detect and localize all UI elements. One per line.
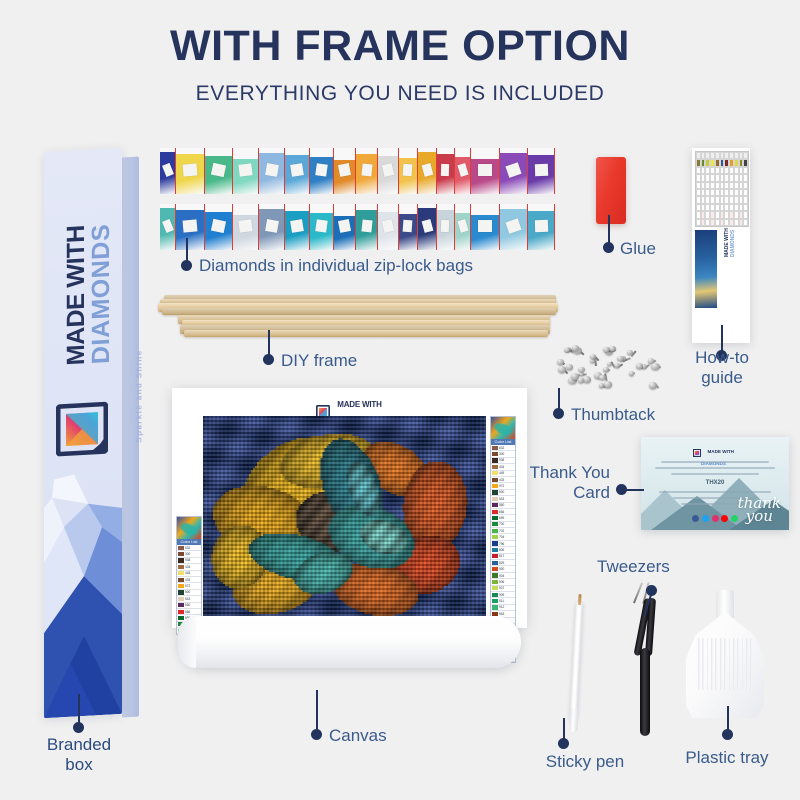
legend-code: 632 bbox=[499, 446, 504, 450]
legend-code: 550 bbox=[499, 503, 504, 507]
zip-bag-row-2 bbox=[160, 204, 555, 250]
zip-bag-label bbox=[265, 219, 279, 233]
tray-ridge bbox=[729, 638, 731, 690]
guide-cover-photo bbox=[695, 230, 717, 308]
guide-chart-cell bbox=[743, 211, 748, 218]
tray-ridge bbox=[742, 638, 744, 690]
tray-ridge bbox=[724, 638, 726, 690]
guide-chart-cell bbox=[743, 182, 748, 189]
legend-swatch bbox=[178, 590, 184, 594]
zip-bag-label bbox=[441, 219, 450, 231]
zip-bag bbox=[259, 148, 285, 194]
zip-bag-label bbox=[290, 219, 304, 233]
legend-code: 918 bbox=[499, 612, 504, 616]
zip-bag bbox=[437, 204, 455, 250]
callout-thank-you-card: Thank You Card bbox=[498, 463, 610, 502]
guide-color-chart bbox=[695, 151, 749, 227]
guide-chart-cell bbox=[743, 167, 748, 174]
legend-swatch bbox=[492, 605, 498, 609]
tweezers bbox=[628, 582, 662, 737]
zip-bag-label bbox=[478, 164, 492, 176]
box-tagline: Sparkle and Shine bbox=[135, 321, 144, 472]
canvas-roll bbox=[178, 616, 521, 668]
tray-ridges bbox=[698, 638, 752, 690]
thumbtack bbox=[583, 376, 591, 382]
legend-swatch bbox=[492, 529, 498, 533]
callout-sticky-pen: Sticky pen bbox=[530, 752, 640, 772]
thumbtack bbox=[604, 381, 612, 387]
glue-leader bbox=[608, 215, 610, 245]
social-icon[interactable] bbox=[692, 515, 699, 522]
thumbtack bbox=[617, 356, 623, 361]
box-polygon-art bbox=[44, 464, 122, 718]
tray-ridge bbox=[746, 638, 748, 690]
thumbtack bbox=[578, 378, 584, 383]
box-brand-text: MADE WITH DIAMONDS bbox=[64, 188, 114, 401]
tray-ridge bbox=[711, 638, 713, 690]
legend-swatch bbox=[178, 616, 184, 620]
zip-bag-label bbox=[361, 163, 373, 176]
legend-code: 825 bbox=[499, 561, 504, 565]
legend-code: 300 bbox=[499, 452, 504, 456]
legend-swatch bbox=[178, 546, 184, 550]
legend-swatch bbox=[492, 541, 498, 545]
bags-dot bbox=[181, 260, 192, 271]
legend-code: 911 bbox=[499, 599, 504, 603]
callout-glue: Glue bbox=[620, 239, 656, 259]
zip-bag bbox=[471, 204, 500, 250]
legend-swatch bbox=[492, 458, 498, 462]
tray-ridge bbox=[698, 638, 700, 690]
legend-code: 938 bbox=[185, 558, 190, 562]
canvas-roll-end bbox=[178, 616, 196, 668]
box-brand-line1: MADE WITH bbox=[64, 190, 89, 401]
card-text-line bbox=[661, 461, 769, 463]
thank-you-leader bbox=[624, 489, 644, 491]
zip-bag-label bbox=[403, 219, 413, 232]
zip-bag-label bbox=[290, 163, 304, 177]
legend-code: 666 bbox=[499, 510, 504, 514]
zip-bag-label bbox=[315, 219, 328, 232]
zip-bag-label bbox=[535, 163, 548, 175]
legend-swatch bbox=[492, 516, 498, 520]
legend-swatch bbox=[492, 586, 498, 590]
zip-bag bbox=[176, 148, 205, 194]
legend-code: 907 bbox=[499, 586, 504, 590]
zip-bag bbox=[455, 204, 472, 250]
zip-bag bbox=[310, 148, 334, 194]
zip-bag bbox=[500, 148, 528, 194]
legend-code: 912 bbox=[499, 605, 504, 609]
legend-swatch bbox=[492, 567, 498, 571]
zip-bag-label bbox=[265, 163, 279, 177]
legend-swatch bbox=[178, 565, 184, 569]
card-logo-line1: MADE WITH bbox=[707, 450, 734, 455]
zip-bag bbox=[437, 148, 455, 194]
zip-bag-label bbox=[183, 219, 198, 232]
social-icon[interactable] bbox=[721, 515, 728, 522]
legend-code: 543 bbox=[185, 597, 190, 601]
legend-swatch bbox=[492, 561, 498, 565]
legend-swatch bbox=[178, 578, 184, 582]
guide-chart-cell bbox=[743, 152, 748, 159]
legend-code: 300 bbox=[185, 552, 190, 556]
tweezers-dot bbox=[646, 585, 657, 596]
canvas-dot bbox=[311, 729, 322, 740]
zip-bag bbox=[500, 204, 528, 250]
zip-bag-label bbox=[183, 163, 198, 176]
zip-bag-label bbox=[403, 163, 413, 176]
tray-ridge bbox=[750, 638, 752, 690]
tweezer-body bbox=[640, 648, 650, 736]
legend-code: 704 bbox=[499, 535, 504, 539]
legend-code: 445 bbox=[185, 571, 190, 575]
zip-bag-label bbox=[361, 219, 373, 232]
pen-cap bbox=[569, 708, 578, 732]
thumbtack-dot bbox=[553, 408, 564, 419]
legend-code: 806 bbox=[499, 548, 504, 552]
zip-bag bbox=[233, 204, 260, 250]
how-to-guide: MADE WITH DIAMONDS bbox=[692, 148, 750, 343]
zip-bag bbox=[418, 204, 437, 250]
zip-bag-label bbox=[211, 162, 227, 176]
zip-bag-label bbox=[211, 218, 227, 232]
legend-code: 700 bbox=[499, 522, 504, 526]
legend-code: 500 bbox=[185, 590, 190, 594]
callout-plastic-tray: Plastic tray bbox=[668, 748, 786, 768]
callout-thumbtack: Thumbtack bbox=[571, 405, 655, 425]
legend-swatch bbox=[492, 580, 498, 584]
tray-ridge bbox=[702, 638, 704, 690]
legend-swatch bbox=[492, 593, 498, 597]
plastic-tray bbox=[686, 590, 764, 718]
zip-bag bbox=[259, 204, 285, 250]
legend-swatch bbox=[492, 452, 498, 456]
thumbtack bbox=[636, 363, 643, 369]
legend-swatch bbox=[492, 548, 498, 552]
sticky-pen-dot bbox=[558, 738, 569, 749]
thumbtack bbox=[566, 364, 573, 369]
legend-code: 796 bbox=[499, 542, 504, 546]
callout-how-to-guide: How-to guide bbox=[672, 348, 772, 387]
card-logo: MADE WITH DIAMONDS bbox=[693, 444, 734, 467]
legend-code: 906 bbox=[499, 580, 504, 584]
legend-swatch bbox=[492, 522, 498, 526]
legend-code: 434 bbox=[185, 565, 190, 569]
zip-bag-label bbox=[239, 219, 253, 232]
pen-body bbox=[570, 602, 583, 720]
callout-diamonds-bags: Diamonds in individual zip-lock bags bbox=[199, 256, 473, 276]
sticky-pen bbox=[568, 592, 584, 732]
zip-bag bbox=[310, 204, 334, 250]
glue-dot bbox=[603, 242, 614, 253]
legend-code: 699 bbox=[499, 516, 504, 520]
canvas-logo-line1: MADE WITH bbox=[337, 400, 381, 409]
thumbtack bbox=[578, 367, 584, 372]
legend-code: 632 bbox=[185, 546, 190, 550]
zip-bag bbox=[399, 204, 419, 250]
callout-canvas: Canvas bbox=[329, 726, 387, 746]
page-subtitle: EVERYTHING YOU NEED IS INCLUDED bbox=[0, 82, 800, 106]
card-promo-code: THX20 bbox=[641, 480, 789, 486]
sticky-pen-leader bbox=[563, 718, 565, 740]
branded-box-dot bbox=[73, 722, 84, 733]
legend-swatch bbox=[492, 554, 498, 558]
diamond-logo-icon bbox=[693, 449, 701, 457]
thumbtack bbox=[629, 371, 635, 376]
zip-bag bbox=[528, 148, 555, 194]
zip-bag bbox=[233, 148, 260, 194]
zip-bag bbox=[285, 204, 310, 250]
legend-code: 972 bbox=[185, 584, 190, 588]
legend-swatch bbox=[492, 599, 498, 603]
legend-code: 550 bbox=[185, 603, 190, 607]
diamond-logo-icon bbox=[56, 402, 108, 457]
zip-bag bbox=[334, 148, 357, 194]
zip-bag bbox=[418, 148, 437, 194]
legend-swatch bbox=[492, 573, 498, 577]
guide-chart-cell bbox=[743, 189, 748, 196]
zip-bag bbox=[160, 204, 176, 250]
thumbtack bbox=[651, 363, 659, 370]
legend-code: 817 bbox=[499, 554, 504, 558]
thumbtack bbox=[603, 367, 608, 371]
branded-box-face: MADE WITH DIAMONDS bbox=[44, 148, 122, 718]
callout-tweezers: Tweezers bbox=[597, 557, 670, 577]
zip-bag bbox=[356, 148, 378, 194]
card-text-line bbox=[659, 491, 771, 493]
callout-diy-frame: DIY frame bbox=[281, 351, 357, 371]
guide-chart-cell bbox=[743, 159, 748, 166]
guide-chart-cell bbox=[743, 219, 748, 226]
zip-bag bbox=[356, 204, 378, 250]
canvas-artwork-pixels bbox=[203, 416, 486, 616]
canvas-leader bbox=[316, 690, 318, 732]
page-title: WITH FRAME OPTION bbox=[0, 22, 800, 71]
thumbtacks bbox=[556, 345, 666, 393]
legend-code: 702 bbox=[499, 529, 504, 533]
legend-swatch bbox=[492, 510, 498, 514]
frame-slat bbox=[184, 330, 548, 337]
canvas: MADE WITH DIAMONDS Color List63230093843… bbox=[172, 388, 527, 683]
legend-code: 666 bbox=[185, 610, 190, 614]
legend-swatch bbox=[492, 446, 498, 450]
zip-bag bbox=[378, 148, 399, 194]
tray-ridge bbox=[733, 638, 735, 690]
zip-bag bbox=[205, 148, 233, 194]
guide-logo: MADE WITH DIAMONDS bbox=[722, 253, 746, 287]
frame-dot bbox=[263, 354, 274, 365]
guide-logo-line2: DIAMONDS bbox=[730, 230, 736, 257]
infographic-root: WITH FRAME OPTION EVERYTHING YOU NEED IS… bbox=[0, 0, 800, 800]
tweezer-tip-left bbox=[633, 582, 643, 603]
legend-code: 938 bbox=[499, 458, 504, 462]
legend-swatch bbox=[178, 597, 184, 601]
zip-bag bbox=[399, 148, 419, 194]
diy-frame bbox=[158, 295, 562, 347]
tray-ridge bbox=[737, 638, 739, 690]
zip-bag bbox=[455, 148, 472, 194]
branded-box-side: Sparkle and Shine bbox=[122, 157, 139, 718]
zip-bag bbox=[176, 204, 205, 250]
tray-ridge bbox=[715, 638, 717, 690]
social-icon[interactable] bbox=[702, 515, 709, 522]
zip-bag bbox=[528, 204, 555, 250]
guide-chart-cell bbox=[743, 174, 748, 181]
thumbtack bbox=[607, 362, 612, 366]
legend-swatch bbox=[178, 603, 184, 607]
tray-ridge bbox=[720, 638, 722, 690]
frame-slat bbox=[162, 308, 556, 315]
legend-swatch bbox=[492, 503, 498, 507]
zip-bag bbox=[285, 148, 310, 194]
pen-tip bbox=[578, 594, 582, 605]
legend-code: 909 bbox=[499, 593, 504, 597]
thumbtack bbox=[603, 347, 609, 352]
legend-swatch bbox=[178, 571, 184, 575]
thumbtack-leader bbox=[558, 388, 560, 410]
zip-bag bbox=[334, 204, 357, 250]
zip-bag bbox=[160, 148, 176, 194]
branded-box: Sparkle and Shine MADE WITH DIAMONDS bbox=[38, 150, 148, 720]
legend-swatch bbox=[492, 535, 498, 539]
legend-thumbnail bbox=[491, 417, 515, 439]
thank-you-card: MADE WITH DIAMONDS THX20 thank you bbox=[641, 437, 789, 530]
legend-swatch bbox=[178, 610, 184, 614]
legend-swatch bbox=[178, 584, 184, 588]
canvas-artwork bbox=[203, 416, 486, 616]
legend-thumbnail bbox=[177, 517, 201, 539]
zip-bag bbox=[205, 204, 233, 250]
plastic-tray-dot bbox=[722, 729, 733, 740]
zip-bag-label bbox=[239, 163, 253, 176]
thank-you-dot bbox=[616, 484, 627, 495]
tray-ridge bbox=[707, 638, 709, 690]
zip-bag bbox=[471, 148, 500, 194]
zip-bag-row-1 bbox=[160, 148, 555, 194]
legend-swatch bbox=[178, 558, 184, 562]
social-icon[interactable] bbox=[712, 515, 719, 522]
zip-bag-label bbox=[315, 163, 328, 176]
callout-branded-box: Branded box bbox=[24, 735, 134, 774]
guide-chart-cell bbox=[743, 196, 748, 203]
box-brand-line2: DIAMONDS bbox=[89, 188, 114, 399]
zip-bag-label bbox=[478, 220, 492, 232]
canvas-sheet: MADE WITH DIAMONDS Color List63230093843… bbox=[172, 388, 527, 628]
legend-code: 433 bbox=[185, 578, 190, 582]
card-thank-you-script: thank you bbox=[738, 497, 781, 523]
zip-bag-label bbox=[441, 163, 450, 175]
zip-bag bbox=[378, 204, 399, 250]
legend-code: 904 bbox=[499, 574, 504, 578]
card-text-line bbox=[655, 467, 775, 469]
guide-chart-cell bbox=[743, 204, 748, 211]
card-text-line bbox=[671, 473, 759, 475]
legend-swatch bbox=[178, 552, 184, 556]
glue-bottle bbox=[596, 157, 626, 224]
zip-lock-bags bbox=[160, 148, 555, 251]
thumbtack bbox=[599, 375, 605, 380]
legend-code: 900 bbox=[499, 567, 504, 571]
zip-bag-label bbox=[535, 219, 548, 231]
